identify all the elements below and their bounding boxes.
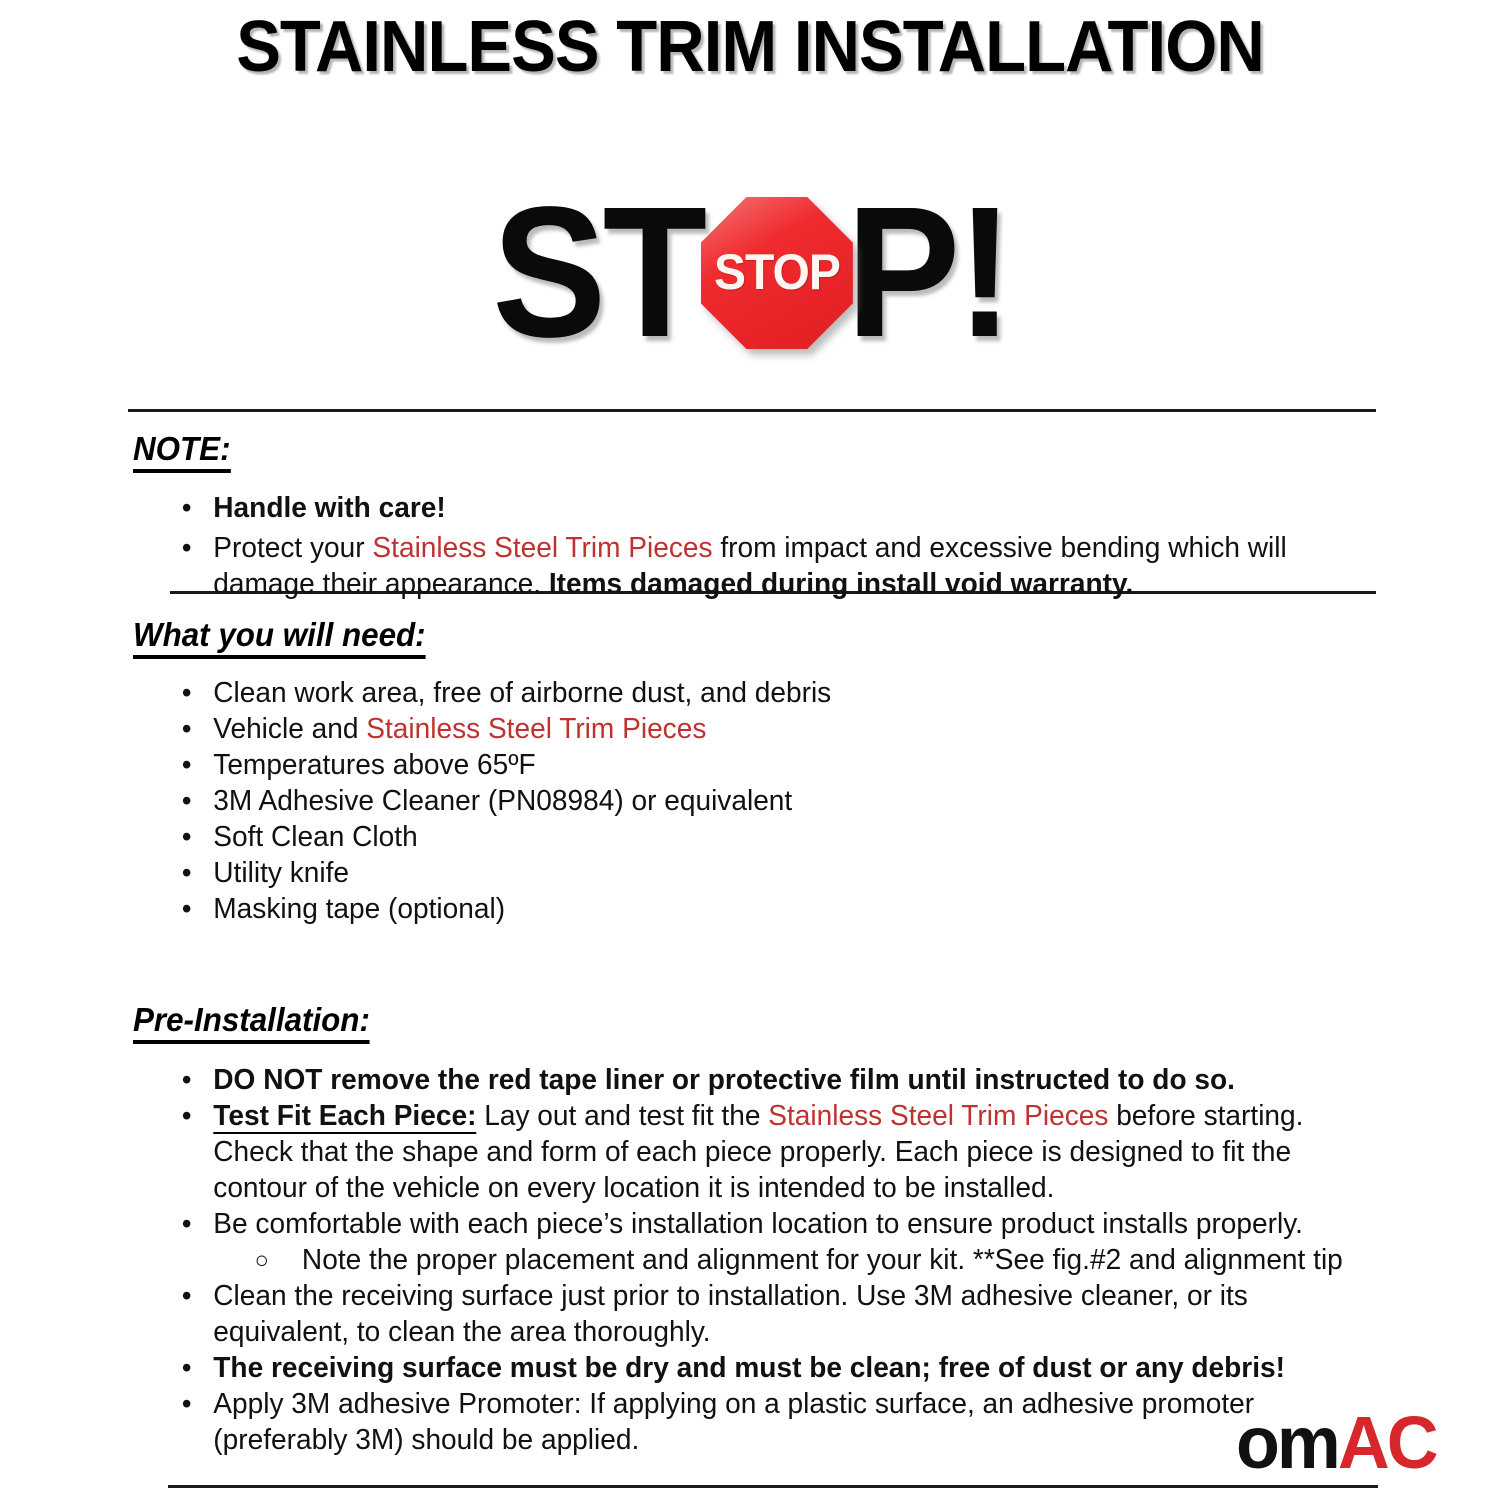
bullet-icon: •: [182, 1062, 192, 1098]
body-text: Clean the receiving surface just prior t…: [213, 1280, 1248, 1348]
omac-logo-ac: AC: [1338, 1401, 1436, 1484]
heading-what-you-will-need-label: What you will need:: [133, 616, 426, 659]
emphasis-text: Handle with care!: [213, 492, 445, 524]
list-item: •Masking tape (optional): [166, 891, 1151, 927]
bullet-icon: •: [182, 1278, 192, 1314]
body-text: Note the proper placement and alignment …: [302, 1244, 1343, 1276]
list-item: •The receiving surface must be dry and m…: [166, 1350, 1378, 1386]
body-text: Masking tape (optional): [213, 893, 505, 925]
bullet-icon: •: [182, 783, 192, 819]
stop-sign-label: STOP: [704, 196, 850, 348]
list-item: •3M Adhesive Cleaner (PN08984) or equiva…: [166, 783, 1151, 819]
body-text: Apply 3M adhesive Promoter: If applying …: [213, 1388, 1254, 1456]
bullet-icon: •: [182, 819, 192, 855]
body-text: Soft Clean Cloth: [213, 821, 417, 853]
stop-prefix-letters: ST: [492, 198, 703, 348]
what-you-will-need-list: •Clean work area, free of airborne dust,…: [166, 675, 1166, 927]
note-list: •Handle with care!•Protect your Stainles…: [166, 490, 1386, 602]
sub-bullet-icon: ○: [255, 1242, 269, 1279]
divider-top: [128, 409, 1376, 412]
list-item: •Soft Clean Cloth: [166, 819, 1151, 855]
sub-list: ○Note the proper placement and alignment…: [213, 1242, 1377, 1278]
list-item: •Vehicle and Stainless Steel Trim Pieces: [166, 711, 1151, 747]
highlight-text: Stainless Steel Trim Pieces: [366, 713, 706, 745]
list-item: •Be comfortable with each piece’s instal…: [166, 1206, 1378, 1278]
bullet-icon: •: [182, 1206, 192, 1242]
bullet-icon: •: [182, 1098, 192, 1134]
list-item: •Apply 3M adhesive Promoter: If applying…: [166, 1386, 1378, 1458]
body-text: 3M Adhesive Cleaner (PN08984) or equival…: [213, 785, 792, 817]
sub-list-item: ○Note the proper placement and alignment…: [213, 1242, 1377, 1278]
list-item: •Handle with care!: [166, 490, 1368, 526]
list-item: •Clean work area, free of airborne dust,…: [166, 675, 1151, 711]
highlight-text: Stainless Steel Trim Pieces: [372, 532, 712, 564]
heading-note: NOTE:: [133, 430, 231, 473]
document-page: STAINLESS TRIM INSTALLATION ST STOP P! N…: [0, 0, 1500, 1500]
stop-suffix-letters: P!: [846, 198, 1010, 348]
omac-logo: omAC: [1236, 1406, 1436, 1480]
body-text: Vehicle and: [213, 713, 366, 745]
list-item: •DO NOT remove the red tape liner or pro…: [166, 1062, 1378, 1098]
body-text: Be comfortable with each piece’s install…: [213, 1208, 1303, 1240]
body-text: Temperatures above 65ºF: [213, 749, 535, 781]
term-label: Test Fit Each Piece:: [213, 1100, 476, 1134]
bullet-icon: •: [182, 1386, 192, 1422]
omac-logo-om: om: [1236, 1401, 1338, 1484]
bullet-icon: •: [182, 747, 192, 783]
body-text: Lay out and test fit the: [476, 1100, 768, 1132]
bullet-icon: •: [182, 530, 192, 566]
body-text: Clean work area, free of airborne dust, …: [213, 677, 831, 709]
stop-graphic: ST STOP P!: [0, 168, 1500, 378]
bullet-icon: •: [182, 855, 192, 891]
list-item: •Test Fit Each Piece: Lay out and test f…: [166, 1098, 1378, 1206]
list-item: •Protect your Stainless Steel Trim Piece…: [166, 530, 1368, 602]
bullet-icon: •: [182, 711, 192, 747]
heading-note-label: NOTE:: [133, 430, 231, 473]
list-item: •Temperatures above 65ºF: [166, 747, 1151, 783]
bullet-icon: •: [182, 490, 192, 526]
body-text: Utility knife: [213, 857, 349, 889]
stop-wordmark: ST STOP P!: [483, 183, 1017, 363]
bullet-icon: •: [182, 675, 192, 711]
heading-pre-installation: Pre-Installation:: [133, 1001, 370, 1044]
emphasis-text: The receiving surface must be dry and mu…: [213, 1352, 1285, 1384]
list-item: •Utility knife: [166, 855, 1151, 891]
bullet-icon: •: [182, 1350, 192, 1386]
heading-pre-installation-label: Pre-Installation:: [133, 1001, 370, 1044]
page-title: STAINLESS TRIM INSTALLATION: [53, 8, 1448, 87]
emphasis-text: DO NOT remove the red tape liner or prot…: [213, 1064, 1235, 1096]
body-text: Protect your: [213, 532, 372, 564]
pre-installation-list: •DO NOT remove the red tape liner or pro…: [166, 1062, 1396, 1458]
emphasis-text: Items damaged during install void warran…: [549, 568, 1133, 600]
divider-bottom: [168, 1485, 1378, 1488]
list-item: •Clean the receiving surface just prior …: [166, 1278, 1378, 1350]
heading-what-you-will-need: What you will need:: [133, 616, 426, 659]
highlight-text: Stainless Steel Trim Pieces: [768, 1100, 1108, 1132]
bullet-icon: •: [182, 891, 192, 927]
stop-sign-icon: STOP: [701, 197, 853, 349]
